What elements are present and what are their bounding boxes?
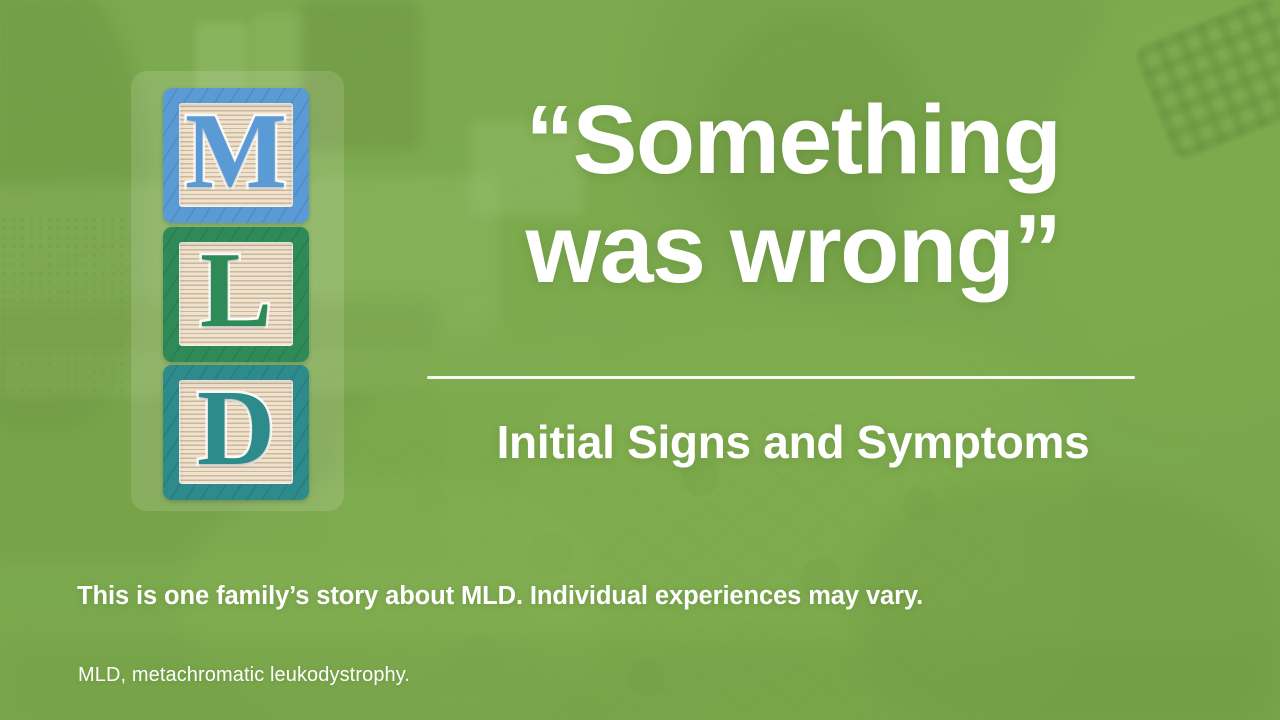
subtitle: Initial Signs and Symptoms — [398, 417, 1188, 468]
block-inner-panel: L — [179, 242, 293, 346]
headline-line-2: was wrong” — [398, 195, 1188, 304]
abbreviation-footnote: MLD, metachromatic leukodystrophy. — [78, 663, 978, 688]
block-letter-l: L — [179, 242, 293, 346]
block-m: M — [163, 88, 309, 223]
block-letter-m: M — [179, 103, 293, 207]
block-l: L — [163, 227, 309, 362]
block-d: D — [163, 365, 309, 500]
slide-canvas: M L D “Something was wrong” — [0, 0, 1280, 720]
disclaimer-text: This is one family’s story about MLD. In… — [77, 581, 1237, 613]
block-letter-d: D — [179, 380, 293, 484]
mld-alphabet-blocks-logo: M L D — [163, 88, 313, 500]
headline-quote: “Something was wrong” — [398, 86, 1188, 303]
block-inner-panel: D — [179, 380, 293, 484]
horizontal-divider — [427, 376, 1135, 379]
headline-line-1: “Something — [398, 86, 1188, 195]
block-inner-panel: M — [179, 103, 293, 207]
